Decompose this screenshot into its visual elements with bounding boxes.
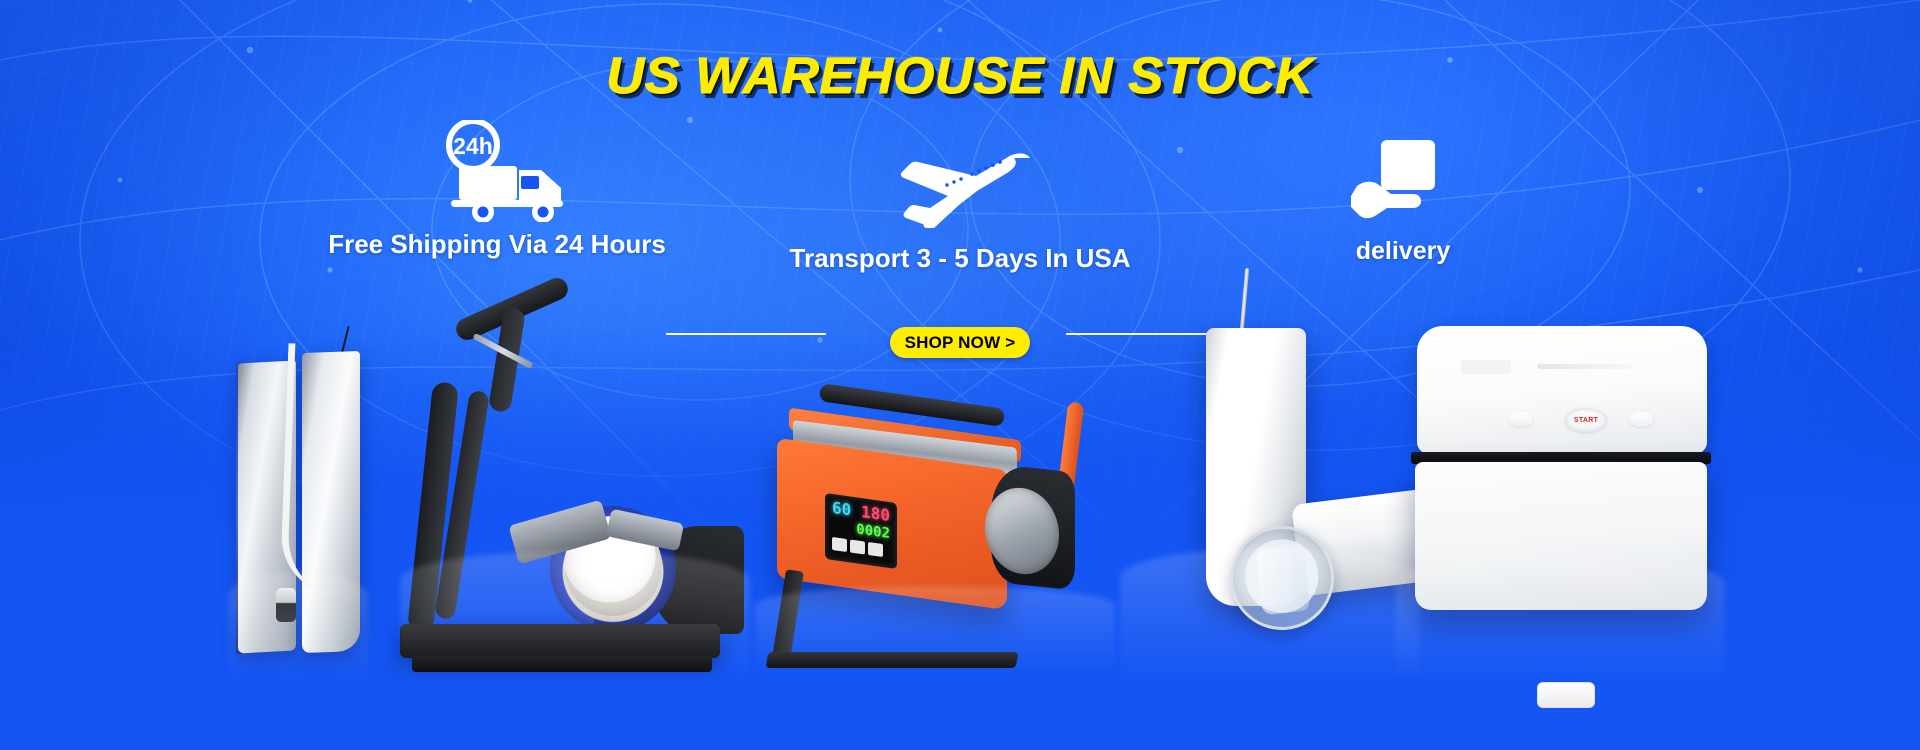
feature-free-shipping: 24h Free Shipping Via 24 Hours xyxy=(302,118,692,259)
airplane-icon xyxy=(880,146,1040,236)
hand-holding-box-icon xyxy=(1351,134,1455,230)
display-button-up[interactable] xyxy=(868,542,883,557)
product-white-3d-sublimation-machine[interactable]: START xyxy=(1395,300,1725,680)
feature-transport: Transport 3 - 5 Days In USA xyxy=(735,132,1185,273)
product-orange-mug-heat-press[interactable]: 60 180 0002 xyxy=(755,410,1115,670)
airplane-icon-wrap xyxy=(735,132,1185,236)
appliance-function-button-left[interactable] xyxy=(1509,412,1533,427)
display-button-set[interactable] xyxy=(850,539,865,554)
page-title: US WAREHOUSE IN STOCK xyxy=(0,50,1920,101)
product-reflection xyxy=(1395,555,1725,684)
display-button-menu[interactable] xyxy=(832,537,847,552)
appliance-latch[interactable] xyxy=(1537,682,1595,708)
display-current-temp: 60 xyxy=(832,500,851,519)
display-set-temp: 180 xyxy=(861,504,890,524)
product-reflection xyxy=(400,551,750,684)
heating-element-cable xyxy=(280,343,347,595)
feature-row: 24h Free Shipping Via 24 Hours xyxy=(0,118,1920,278)
product-reflection xyxy=(1120,548,1420,684)
truck-24h-icon-wrap: 24h xyxy=(302,118,692,222)
truck-24h-icon: 24h xyxy=(423,120,571,222)
product-white-sublimation-tumblers[interactable] xyxy=(1120,280,1420,680)
truck-badge-text: 24h xyxy=(453,133,493,159)
hand-holding-box-icon-wrap xyxy=(1238,126,1568,230)
product-mug-press-heating-element[interactable] xyxy=(228,350,368,680)
promo-banner: US WAREHOUSE IN STOCK 24h xyxy=(0,0,1920,750)
appliance-vent-slot xyxy=(1537,364,1633,369)
feature-label-transport: Transport 3 - 5 Days In USA xyxy=(735,244,1185,273)
feature-delivery: delivery xyxy=(1238,126,1568,266)
product-stage: 60 180 0002 xyxy=(0,330,1920,750)
feature-label-free-shipping: Free Shipping Via 24 Hours xyxy=(302,230,692,259)
appliance-warning-sticker xyxy=(1461,360,1511,374)
orange-press-control-display[interactable]: 60 180 0002 xyxy=(825,493,897,569)
feature-label-delivery: delivery xyxy=(1238,238,1568,266)
product-black-mug-heat-press[interactable] xyxy=(400,290,750,680)
product-reflection xyxy=(755,586,1115,674)
appliance-lid: START xyxy=(1417,326,1707,454)
appliance-start-button[interactable]: START xyxy=(1565,408,1607,432)
appliance-function-button-right[interactable] xyxy=(1629,412,1653,427)
product-reflection xyxy=(228,572,368,684)
